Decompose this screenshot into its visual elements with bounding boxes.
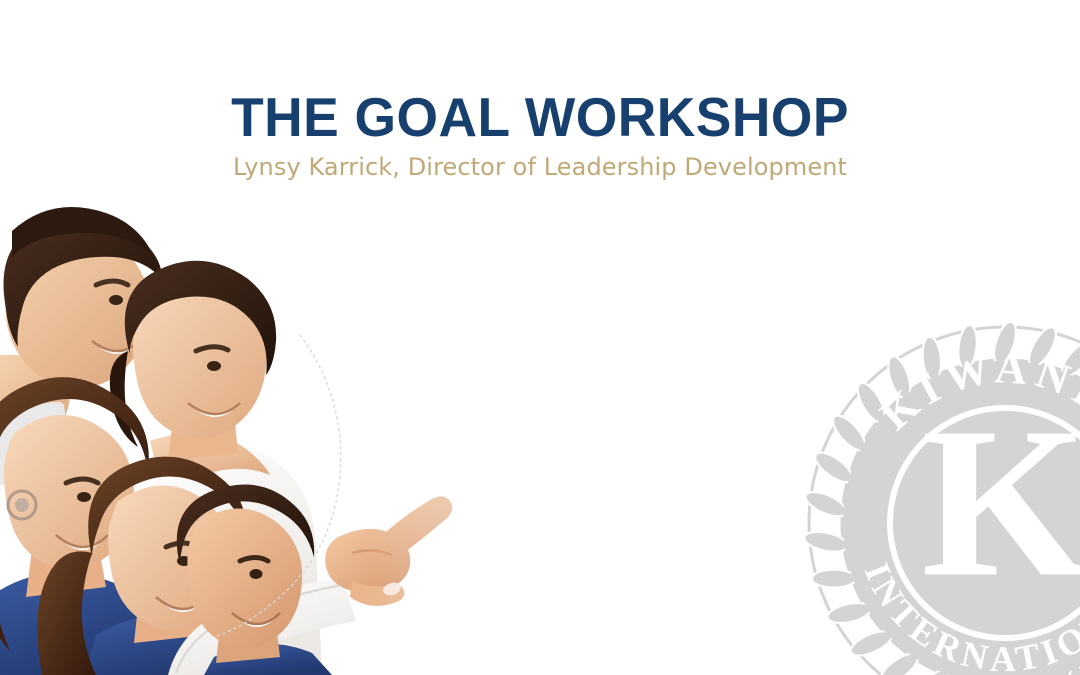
seal-arc-bottom-text: INTERNATIONAL (857, 557, 1080, 675)
presenter-subtitle: Lynsy Karrick, Director of Leadership De… (0, 153, 1080, 181)
person-woman-pointing (37, 457, 452, 675)
seal-arc-top-text: KIWANIS (871, 343, 1080, 440)
person-woman-back-right (110, 261, 322, 675)
laurel-wreath-leaves (801, 319, 1080, 675)
pointing-hand (325, 496, 452, 605)
title-block: THE GOAL WORKSHOP Lynsy Karrick, Directo… (0, 88, 1080, 181)
page-title: THE GOAL WORKSHOP (16, 88, 1064, 146)
person-man-back (0, 207, 162, 485)
kiwanis-seal-watermark: KIWANIS INTERNATIONAL K (795, 313, 1080, 675)
seal-center-letter: K (921, 382, 1080, 621)
person-woman-front-left (0, 377, 184, 675)
group-photo (0, 205, 600, 675)
person-man-front-right (177, 485, 332, 675)
earring (8, 491, 36, 519)
photo-cutout-outline (214, 335, 341, 637)
slide-canvas: KIWANIS INTERNATIONAL K THE GOAL WORKSHO… (0, 0, 1080, 675)
pointing-arm-sleeve (168, 577, 356, 675)
photo-edge-fade (0, 205, 620, 675)
